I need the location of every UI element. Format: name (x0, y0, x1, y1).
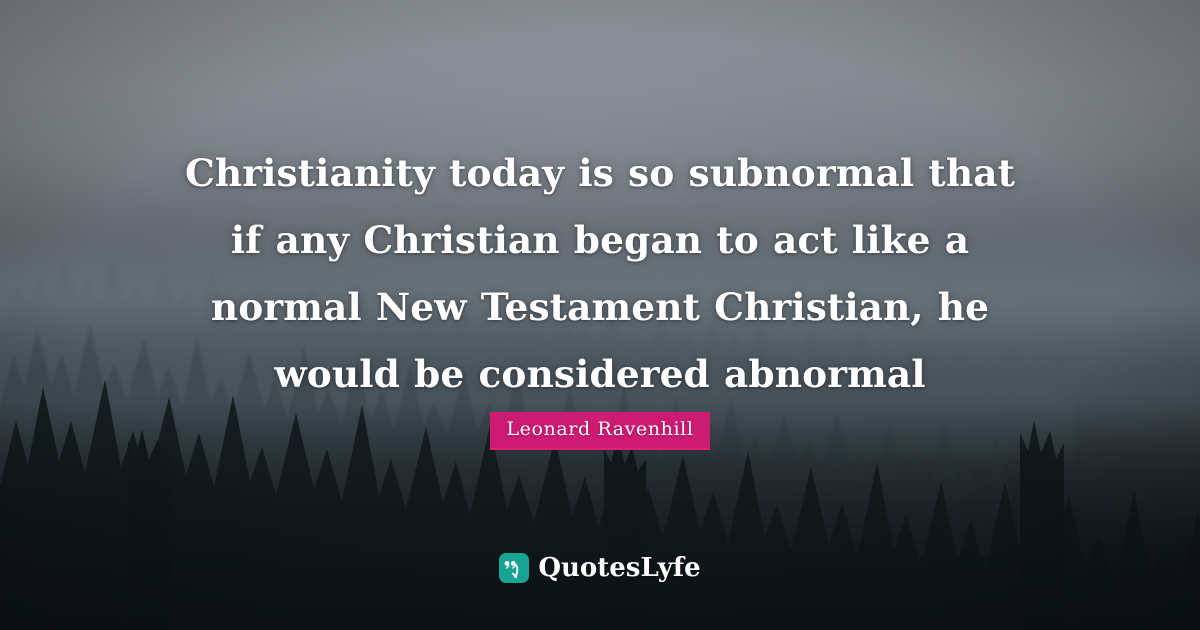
author-name-badge[interactable]: Leonard Ravenhill (490, 412, 709, 450)
quote-text: Christianity today is so subnormal that … (170, 140, 1030, 408)
author-row: Leonard Ravenhill (0, 412, 1200, 450)
quote-block: Christianity today is so subnormal that … (170, 140, 1030, 408)
card-content: Christianity today is so subnormal that … (0, 0, 1200, 630)
quote-card: Christianity today is so subnormal that … (0, 0, 1200, 630)
brand-logo[interactable]: QuotesLyfe (0, 553, 1200, 583)
quote-mark-icon (499, 553, 529, 583)
brand-name: QuotesLyfe (538, 555, 700, 581)
